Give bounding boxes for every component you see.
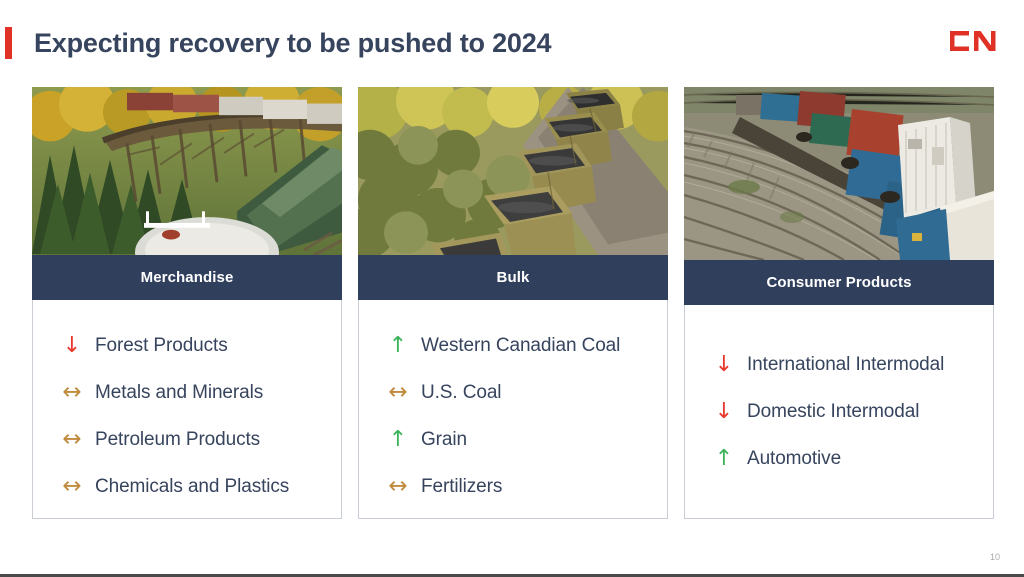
card-merchandise[interactable]: Merchandise ↓ Forest Products ↔ Metals a… xyxy=(32,87,342,519)
list-item-label: Grain xyxy=(415,429,467,451)
list-item-label: Domestic Intermodal xyxy=(741,401,919,423)
arrow-down-icon: ↓ xyxy=(55,335,89,357)
list-item[interactable]: ↓ Domestic Intermodal xyxy=(685,388,993,435)
cn-logo xyxy=(947,28,999,54)
arrow-flat-icon: ↔ xyxy=(55,381,89,404)
list-item-label: Chemicals and Plastics xyxy=(89,476,289,498)
arrow-up-icon: ↑ xyxy=(381,335,415,357)
category-cards: Merchandise ↓ Forest Products ↔ Metals a… xyxy=(32,87,994,519)
list-item[interactable]: ↓ Forest Products xyxy=(33,322,341,369)
list-item[interactable]: ↔ Chemicals and Plastics xyxy=(33,463,341,510)
page-number: 10 xyxy=(990,552,1000,562)
list-item-label: Automotive xyxy=(741,448,841,470)
card-consumer-products[interactable]: Consumer Products ↓ International Interm… xyxy=(684,87,994,519)
list-item-label: Forest Products xyxy=(89,335,228,357)
list-item[interactable]: ↔ Petroleum Products xyxy=(33,416,341,463)
list-item[interactable]: ↔ Metals and Minerals xyxy=(33,369,341,416)
card-title-merchandise: Merchandise xyxy=(32,255,342,300)
list-item-label: U.S. Coal xyxy=(415,382,501,404)
arrow-down-icon: ↓ xyxy=(707,401,741,423)
list-item[interactable]: ↔ Fertilizers xyxy=(359,463,667,510)
list-item[interactable]: ↑ Grain xyxy=(359,416,667,463)
title-accent-bar xyxy=(5,27,12,59)
page-title: Expecting recovery to be pushed to 2024 xyxy=(34,27,551,59)
arrow-down-icon: ↓ xyxy=(707,354,741,376)
loaded-coal-hopper-cars-photo xyxy=(358,87,668,255)
slide: Expecting recovery to be pushed to 2024 xyxy=(0,0,1024,577)
list-item-label: Petroleum Products xyxy=(89,429,260,451)
list-item[interactable]: ↔ U.S. Coal xyxy=(359,369,667,416)
arrow-flat-icon: ↔ xyxy=(55,428,89,451)
card-bulk[interactable]: Bulk ↑ Western Canadian Coal ↔ U.S. Coal… xyxy=(358,87,668,519)
freight-train-on-trestle-bridge-photo xyxy=(32,87,342,255)
intermodal-container-rail-yard-photo xyxy=(684,87,994,260)
card-title-bulk: Bulk xyxy=(358,255,668,300)
arrow-flat-icon: ↔ xyxy=(55,475,89,498)
list-item-label: Western Canadian Coal xyxy=(415,335,620,357)
card-title-consumer-products: Consumer Products xyxy=(684,260,994,305)
list-item[interactable]: ↑ Automotive xyxy=(685,435,993,482)
arrow-flat-icon: ↔ xyxy=(381,475,415,498)
arrow-flat-icon: ↔ xyxy=(381,381,415,404)
list-item[interactable]: ↑ Western Canadian Coal xyxy=(359,322,667,369)
card-body-merchandise: ↓ Forest Products ↔ Metals and Minerals … xyxy=(32,300,342,519)
card-body-consumer-products: ↓ International Intermodal ↓ Domestic In… xyxy=(684,305,994,519)
list-item-label: Fertilizers xyxy=(415,476,502,498)
list-item[interactable]: ↓ International Intermodal xyxy=(685,341,993,388)
card-body-bulk: ↑ Western Canadian Coal ↔ U.S. Coal ↑ Gr… xyxy=(358,300,668,519)
list-item-label: International Intermodal xyxy=(741,354,944,376)
arrow-up-icon: ↑ xyxy=(381,429,415,451)
list-item-label: Metals and Minerals xyxy=(89,382,263,404)
arrow-up-icon: ↑ xyxy=(707,448,741,470)
